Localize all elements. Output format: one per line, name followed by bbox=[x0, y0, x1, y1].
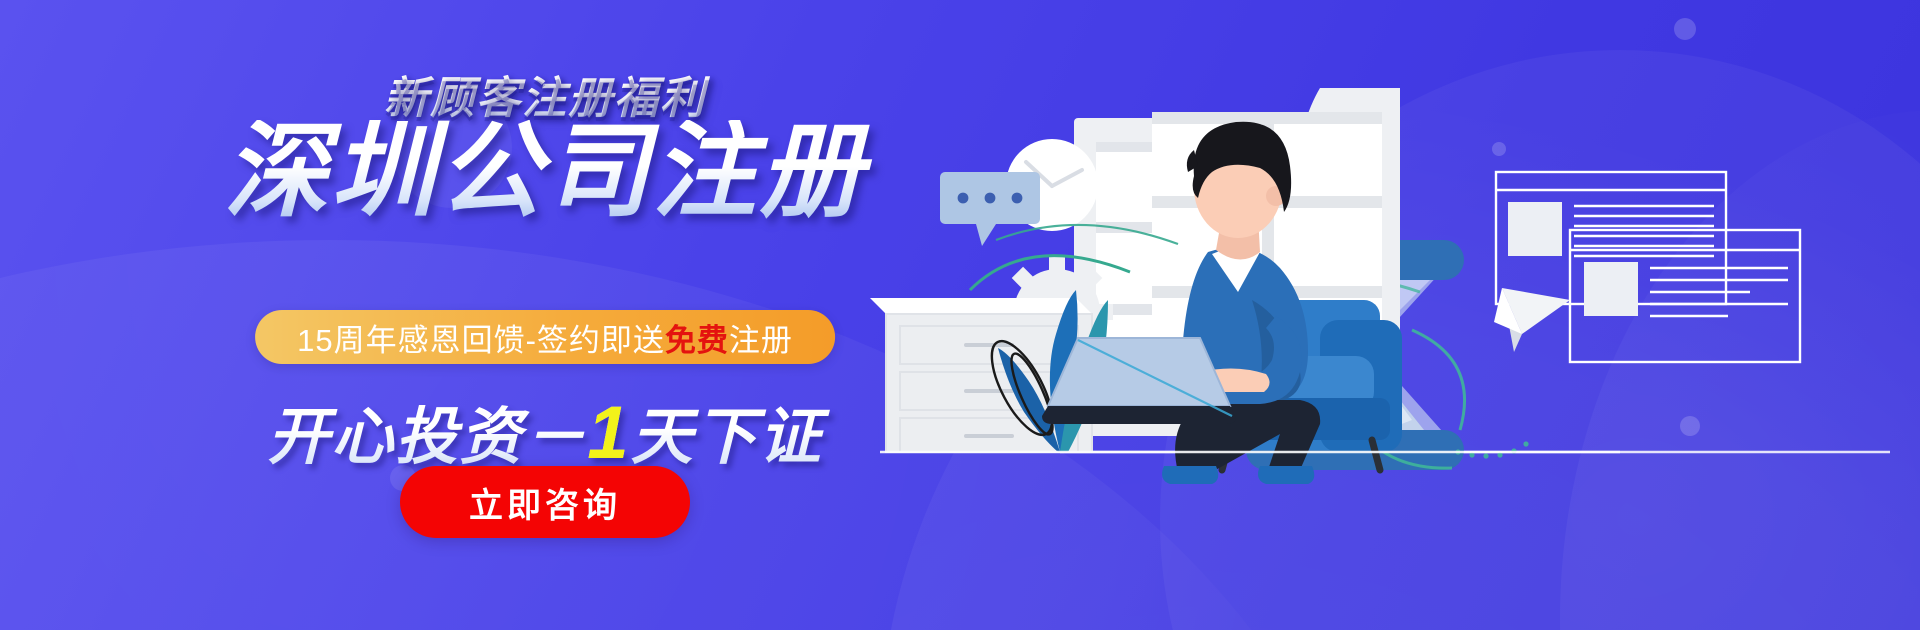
promo-pill-highlight: 免费 bbox=[665, 323, 729, 358]
subline-prefix: 开心投资－ bbox=[267, 403, 587, 472]
consult-now-button[interactable]: 立即咨询 bbox=[400, 466, 690, 538]
promo-pill: 15周年感恩回馈-签约即送免费注册 bbox=[255, 310, 835, 364]
promo-pill-text: 15周年感恩回馈-签约即送免费注册 bbox=[297, 315, 793, 360]
accent-line-icon bbox=[996, 225, 1178, 244]
consult-now-label: 立即咨询 bbox=[469, 478, 621, 527]
shoe-icon bbox=[1162, 466, 1218, 484]
promo-pill-prefix: 15周年感恩回馈-签约即送 bbox=[297, 323, 665, 358]
chat-bubble-icon bbox=[940, 172, 1040, 246]
shoe-icon bbox=[1258, 466, 1314, 484]
illustration bbox=[1060, 0, 1920, 630]
subline-number: 1 bbox=[587, 391, 630, 474]
promo-banner: 新顾客注册福利 深圳公司注册 15周年感恩回馈-签约即送免费注册 开心投资－1天… bbox=[0, 0, 1920, 630]
